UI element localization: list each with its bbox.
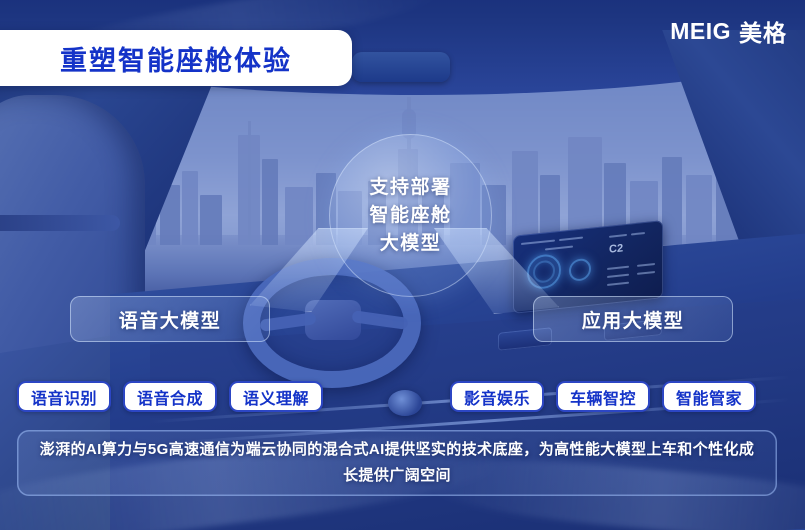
page-title-text: 重塑智能座舱体验 xyxy=(46,39,292,78)
hero-circle: 支持部署 智能座舱 大模型 xyxy=(329,134,492,297)
tag-entertainment-label: 影音娱乐 xyxy=(464,385,530,409)
statement-box: 澎湃的AI算力与5G高速通信为端云协同的混合式AI提供坚实的技术底座，为高性能大… xyxy=(17,430,777,496)
tag-smart-butler[interactable]: 智能管家 xyxy=(662,381,756,412)
statement-text: 澎湃的AI算力与5G高速通信为端云协同的混合式AI提供坚实的技术底座，为高性能大… xyxy=(35,437,759,489)
tag-speech-synthesis-label: 语音合成 xyxy=(137,385,203,409)
tag-vehicle-control-label: 车辆智控 xyxy=(570,385,636,409)
rearview-mirror-icon xyxy=(352,52,450,82)
page-title: 重塑智能座舱体验 xyxy=(0,30,352,86)
hero-circle-line-2: 智能座舱 xyxy=(369,203,451,229)
model-box-application: 应用大模型 xyxy=(533,296,733,342)
control-knob-icon xyxy=(388,390,422,416)
tag-semantic-understanding[interactable]: 语义理解 xyxy=(229,381,323,412)
model-box-voice: 语音大模型 xyxy=(70,296,270,342)
tag-semantic-understanding-label: 语义理解 xyxy=(243,385,309,409)
tag-smart-butler-label: 智能管家 xyxy=(676,385,742,409)
brand-logo: MEIG 美格 xyxy=(670,14,787,48)
tag-entertainment[interactable]: 影音娱乐 xyxy=(450,381,544,412)
tag-group-left: 语音识别 语音合成 语义理解 xyxy=(17,381,323,412)
logo-cn-text: 美格 xyxy=(739,14,787,48)
model-box-application-label: 应用大模型 xyxy=(582,306,685,333)
model-box-voice-label: 语音大模型 xyxy=(119,306,222,333)
tag-speech-recognition-label: 语音识别 xyxy=(31,385,97,409)
hero-circle-line-1: 支持部署 xyxy=(369,175,451,201)
hero-circle-line-3: 大模型 xyxy=(380,231,442,257)
tag-speech-synthesis[interactable]: 语音合成 xyxy=(123,381,217,412)
seat-trim xyxy=(0,215,120,231)
tag-group-right: 影音娱乐 车辆智控 智能管家 xyxy=(450,381,756,412)
logo-mark-text: MEIG xyxy=(670,18,731,45)
tag-vehicle-control[interactable]: 车辆智控 xyxy=(556,381,650,412)
tag-speech-recognition[interactable]: 语音识别 xyxy=(17,381,111,412)
slide-canvas: C2 支持部署 智能座舱 大模型 重塑智能座舱体验 MEIG 美格 语音大模型 … xyxy=(0,0,805,530)
